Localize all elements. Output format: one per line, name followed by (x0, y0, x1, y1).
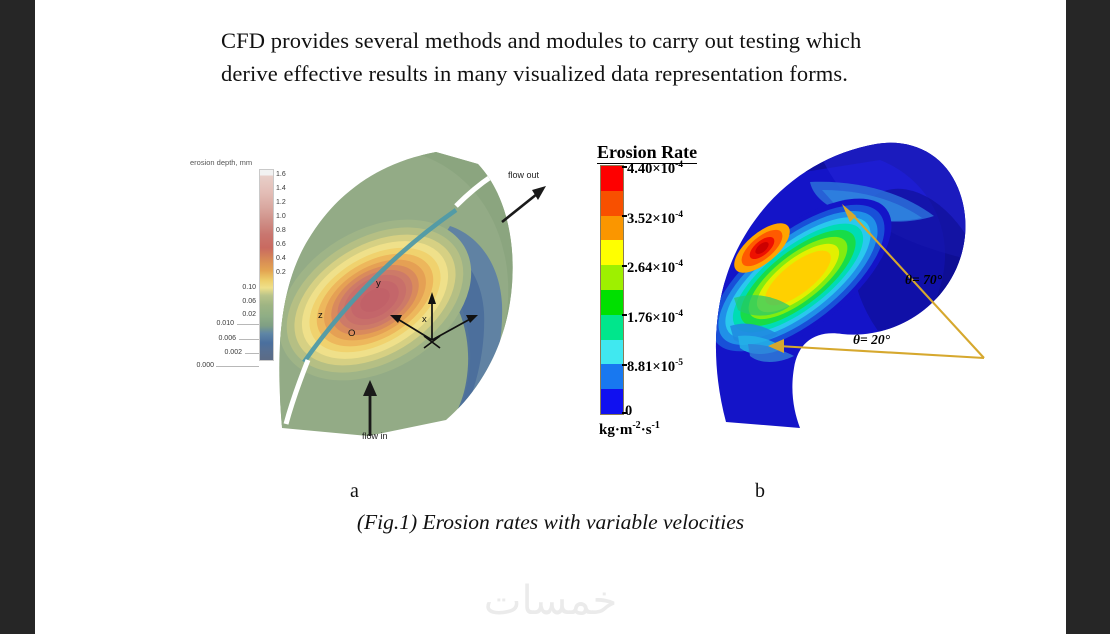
flow-out-label: flow out (508, 170, 539, 180)
axis-label-x: x (422, 314, 427, 325)
colorbar-b-tick-0: 0 (625, 404, 632, 418)
colorbar-b-units: kg·m-2·s-1 (599, 420, 660, 439)
letterbox-left (0, 0, 35, 634)
colorbar-a-tick-0.006: 0.006 (198, 335, 236, 343)
tick-exponent: -4 (675, 259, 683, 269)
figures-row: erosion depth, mm 1.6 1.4 1.2 1.0 0.8 0.… (35, 120, 1066, 470)
tick-mantissa: 8.81×10 (627, 359, 675, 375)
colorbar-b-band-5 (601, 290, 623, 315)
angle-20-label: θ= 20° (853, 332, 890, 348)
flow-in-label: flow in (362, 431, 388, 441)
subfigure-label-a: a (350, 480, 359, 503)
tick-exponent: -4 (675, 309, 683, 319)
units-exp-2: -1 (652, 420, 660, 431)
angle-70-label: θ= 70° (905, 272, 942, 288)
colorbar-b-band-4 (601, 265, 623, 290)
tick-exponent: -4 (675, 160, 683, 170)
tick-mantissa: 2.64×10 (627, 260, 675, 276)
colorbar-b-band-8 (601, 364, 623, 389)
colorbar-b-band-2 (601, 216, 623, 241)
axis-label-y: y (376, 278, 381, 289)
colorbar-b-tick-176e-4: 1.76×10-4 (627, 307, 683, 325)
flow-out-arrow (502, 186, 546, 222)
colorbar-b-band-6 (601, 315, 623, 340)
axis-label-origin: O (348, 328, 355, 339)
figure-caption: (Fig.1) Erosion rates with variable velo… (35, 510, 1066, 535)
colorbar-b-band-9 (601, 389, 623, 414)
colorbar-b-band-3 (601, 240, 623, 265)
figure-a: erosion depth, mm 1.6 1.4 1.2 1.0 0.8 0.… (190, 130, 550, 460)
colorbar-b-tick-881e-5: 8.81×10-5 (627, 356, 683, 374)
colorbar-b-band-0 (601, 166, 623, 191)
units-s: ·s (641, 422, 652, 438)
watermark-khamsat: خمسات (35, 578, 1066, 624)
letterbox-right (1066, 0, 1110, 634)
pipe-bend-erosion-depth-3d (250, 140, 550, 440)
tick-exponent: -4 (675, 210, 683, 220)
units-kg-m: kg·m (599, 422, 632, 438)
colorbar-a-tick-0.000: 0.000 (176, 362, 214, 370)
axis-label-z: z (318, 310, 323, 321)
units-exp-1: -2 (632, 420, 640, 431)
tick-mantissa: 1.76×10 (627, 310, 675, 326)
figure-b: Erosion Rate 4.40×10-4 3.52×10-4 2.64×10… (595, 120, 1015, 460)
colorbar-a-title: erosion depth, mm (190, 158, 252, 167)
pipe-bend-erosion-rate-3d (690, 130, 1015, 430)
slide-stage: CFD provides several methods and modules… (0, 0, 1110, 634)
colorbar-b-gradient (600, 165, 624, 415)
tick-mantissa: 3.52×10 (627, 211, 675, 227)
colorbar-b-tick-264e-4: 2.64×10-4 (627, 257, 683, 275)
colorbar-b-tick-440e-4: 4.40×10-4 (627, 158, 683, 176)
tick-exponent: -5 (675, 358, 683, 368)
colorbar-b-band-7 (601, 340, 623, 365)
document-page: CFD provides several methods and modules… (35, 0, 1066, 634)
body-paragraph: CFD provides several methods and modules… (221, 24, 921, 90)
tick-mantissa: 0 (625, 403, 632, 419)
colorbar-b-tick-352e-4: 3.52×10-4 (627, 208, 683, 226)
subfigure-label-b: b (755, 480, 765, 503)
colorbar-a-tick-0.002: 0.002 (204, 349, 242, 357)
tick-mantissa: 4.40×10 (627, 161, 675, 177)
colorbar-a-tick-0.010: 0.010 (196, 320, 234, 328)
colorbar-b-band-1 (601, 191, 623, 216)
